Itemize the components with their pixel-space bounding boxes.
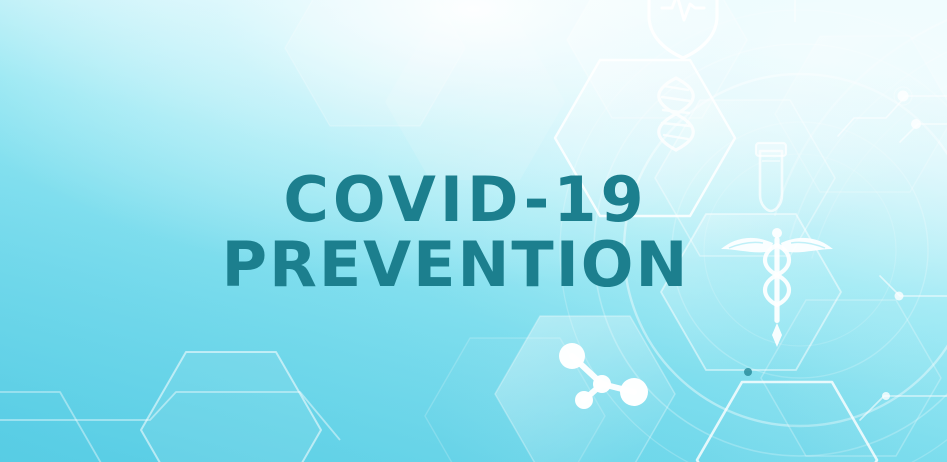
medical-icons bbox=[0, 0, 947, 462]
shield-pulse-icon bbox=[649, 0, 717, 58]
dna-helix-icon bbox=[659, 78, 694, 150]
caduceus-icon bbox=[721, 228, 833, 347]
test-tube-icon bbox=[756, 143, 786, 211]
covid-prevention-banner: COVID-19 PREVENTION bbox=[0, 0, 947, 462]
molecule-icon bbox=[559, 343, 648, 409]
